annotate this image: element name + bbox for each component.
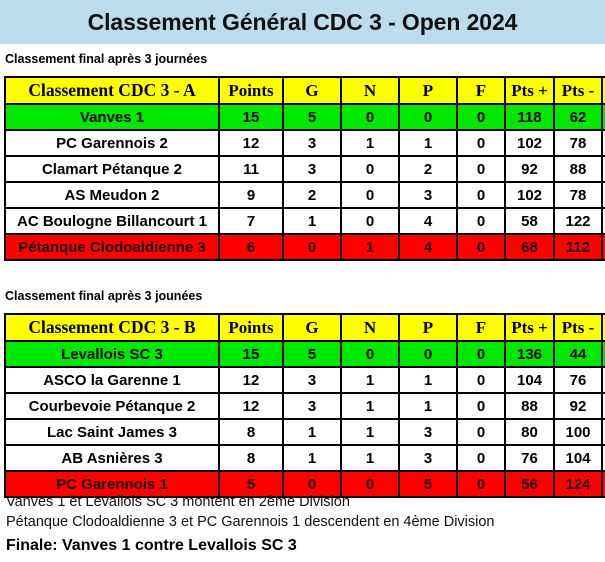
cell-p: 1 [399, 367, 457, 393]
column-header-pts-plus: Pts + [505, 314, 554, 341]
cell-p: 1 [399, 393, 457, 419]
column-header-g: G [283, 314, 341, 341]
cell-n: 1 [341, 367, 399, 393]
cell-p: 3 [399, 419, 457, 445]
cell-team: Lac Saint James 3 [5, 419, 219, 445]
cell-f: 0 [457, 367, 505, 393]
standings-table-group-a: Classement CDC 3 - A Points G N P F Pts … [4, 76, 605, 261]
cell-team: AC Boulogne Billancourt 1 [5, 208, 219, 234]
cell-pts-plus: 58 [505, 208, 554, 234]
cell-team: Clamart Pétanque 2 [5, 156, 219, 182]
cell-pts-minus: 122 [554, 208, 602, 234]
column-header-f: F [457, 77, 505, 104]
page-title: Classement Général CDC 3 - Open 2024 [88, 9, 518, 36]
cell-pts-minus: 100 [554, 419, 602, 445]
cell-team: AB Asnières 3 [5, 445, 219, 471]
table-row: Courbevoie Pétanque 2 12 3 1 1 0 88 92 -… [5, 393, 605, 419]
cell-p: 4 [399, 208, 457, 234]
column-header-g: G [283, 77, 341, 104]
cell-g: 1 [283, 208, 341, 234]
cell-f: 0 [457, 130, 505, 156]
table-row: AS Meudon 2 9 2 0 3 0 102 78 24 [5, 182, 605, 208]
cell-points: 7 [219, 208, 283, 234]
cell-pts-minus: 92 [554, 393, 602, 419]
cell-n: 0 [341, 208, 399, 234]
cell-pts-minus: 112 [554, 234, 602, 260]
cell-points: 11 [219, 156, 283, 182]
cell-g: 1 [283, 419, 341, 445]
cell-points: 8 [219, 445, 283, 471]
table-row: Pétanque Clodoaldienne 3 6 0 1 4 0 68 11… [5, 234, 605, 260]
cell-pts-plus: 136 [505, 341, 554, 367]
cell-p: 3 [399, 445, 457, 471]
cell-points: 6 [219, 234, 283, 260]
cell-points: 15 [219, 341, 283, 367]
group-a-subtitle: Classement final après 3 journées [5, 52, 207, 66]
table-body-group-b: Levallois SC 3 15 5 0 0 0 136 44 92 ASCO… [5, 341, 605, 497]
cell-p: 4 [399, 234, 457, 260]
cell-pts-minus: 88 [554, 156, 602, 182]
cell-f: 0 [457, 104, 505, 130]
cell-pts-minus: 62 [554, 104, 602, 130]
cell-n: 1 [341, 419, 399, 445]
table-header-row: Classement CDC 3 - B Points G N P F Pts … [5, 314, 605, 341]
cell-team: ASCO la Garenne 1 [5, 367, 219, 393]
table-header-group-b: Classement CDC 3 - B Points G N P F Pts … [5, 314, 605, 341]
cell-points: 15 [219, 104, 283, 130]
cell-pts-plus: 76 [505, 445, 554, 471]
cell-team: AS Meudon 2 [5, 182, 219, 208]
cell-pts-minus: 44 [554, 341, 602, 367]
cell-g: 5 [283, 104, 341, 130]
cell-pts-plus: 80 [505, 419, 554, 445]
table-row: Lac Saint James 3 8 1 1 3 0 80 100 -20 [5, 419, 605, 445]
cell-n: 0 [341, 341, 399, 367]
cell-p: 0 [399, 341, 457, 367]
group-b-subtitle: Classement final après 3 jounées [5, 289, 202, 303]
standings-table-group-b: Classement CDC 3 - B Points G N P F Pts … [4, 313, 605, 498]
cell-points: 12 [219, 130, 283, 156]
cell-pts-plus: 88 [505, 393, 554, 419]
cell-pts-minus: 78 [554, 182, 602, 208]
cell-pts-plus: 118 [505, 104, 554, 130]
cell-p: 2 [399, 156, 457, 182]
cell-f: 0 [457, 393, 505, 419]
cell-team: Courbevoie Pétanque 2 [5, 393, 219, 419]
cell-team: PC Garennois 2 [5, 130, 219, 156]
note-promotion: Vanves 1 et Levallois SC 3 montent en 2è… [6, 492, 600, 512]
cell-team: Pétanque Clodoaldienne 3 [5, 234, 219, 260]
table-header-group-a: Classement CDC 3 - A Points G N P F Pts … [5, 77, 605, 104]
cell-g: 3 [283, 156, 341, 182]
cell-f: 0 [457, 182, 505, 208]
cell-team: Vanves 1 [5, 104, 219, 130]
cell-pts-plus: 104 [505, 367, 554, 393]
cell-team: Levallois SC 3 [5, 341, 219, 367]
cell-points: 12 [219, 367, 283, 393]
cell-n: 0 [341, 182, 399, 208]
cell-f: 0 [457, 156, 505, 182]
cell-n: 1 [341, 393, 399, 419]
table-row: Vanves 1 15 5 0 0 0 118 62 56 [5, 104, 605, 130]
cell-f: 0 [457, 419, 505, 445]
cell-g: 5 [283, 341, 341, 367]
column-header-points: Points [219, 77, 283, 104]
table-row: Levallois SC 3 15 5 0 0 0 136 44 92 [5, 341, 605, 367]
column-header-pts-minus: Pts - [554, 77, 602, 104]
column-header-n: N [341, 77, 399, 104]
cell-pts-minus: 104 [554, 445, 602, 471]
cell-pts-minus: 76 [554, 367, 602, 393]
cell-p: 1 [399, 130, 457, 156]
cell-n: 0 [341, 156, 399, 182]
cell-g: 2 [283, 182, 341, 208]
column-header-n: N [341, 314, 399, 341]
table-row: ASCO la Garenne 1 12 3 1 1 0 104 76 28 [5, 367, 605, 393]
table-body-group-a: Vanves 1 15 5 0 0 0 118 62 56 PC Garenno… [5, 104, 605, 260]
table-row: PC Garennois 2 12 3 1 1 0 102 78 24 [5, 130, 605, 156]
standings-page: Classement Général CDC 3 - Open 2024 Cla… [0, 0, 605, 562]
cell-f: 0 [457, 445, 505, 471]
cell-f: 0 [457, 234, 505, 260]
cell-g: 3 [283, 130, 341, 156]
cell-pts-plus: 92 [505, 156, 554, 182]
cell-points: 8 [219, 419, 283, 445]
cell-points: 12 [219, 393, 283, 419]
cell-g: 3 [283, 393, 341, 419]
footer-notes: Vanves 1 et Levallois SC 3 montent en 2è… [6, 492, 600, 558]
note-relegation: Pétanque Clodoaldienne 3 et PC Garennois… [6, 512, 600, 532]
column-header-f: F [457, 314, 505, 341]
cell-n: 0 [341, 104, 399, 130]
table-row: AB Asnières 3 8 1 1 3 0 76 104 -28 [5, 445, 605, 471]
cell-pts-plus: 102 [505, 182, 554, 208]
note-final-match: Finale: Vanves 1 contre Levallois SC 3 [6, 532, 600, 558]
table-row: AC Boulogne Billancourt 1 7 1 0 4 0 58 1… [5, 208, 605, 234]
column-header-team: Classement CDC 3 - B [5, 314, 219, 341]
table-row: Clamart Pétanque 2 11 3 0 2 0 92 88 4 [5, 156, 605, 182]
table-header-row: Classement CDC 3 - A Points G N P F Pts … [5, 77, 605, 104]
cell-p: 3 [399, 182, 457, 208]
cell-g: 1 [283, 445, 341, 471]
cell-n: 1 [341, 445, 399, 471]
column-header-pts-plus: Pts + [505, 77, 554, 104]
column-header-team: Classement CDC 3 - A [5, 77, 219, 104]
column-header-points: Points [219, 314, 283, 341]
cell-n: 1 [341, 130, 399, 156]
cell-pts-plus: 68 [505, 234, 554, 260]
cell-pts-plus: 102 [505, 130, 554, 156]
column-header-pts-minus: Pts - [554, 314, 602, 341]
cell-f: 0 [457, 341, 505, 367]
cell-g: 3 [283, 367, 341, 393]
cell-pts-minus: 78 [554, 130, 602, 156]
cell-points: 9 [219, 182, 283, 208]
column-header-p: P [399, 314, 457, 341]
page-title-bar: Classement Général CDC 3 - Open 2024 [0, 0, 605, 44]
column-header-p: P [399, 77, 457, 104]
cell-p: 0 [399, 104, 457, 130]
cell-f: 0 [457, 208, 505, 234]
cell-n: 1 [341, 234, 399, 260]
cell-g: 0 [283, 234, 341, 260]
